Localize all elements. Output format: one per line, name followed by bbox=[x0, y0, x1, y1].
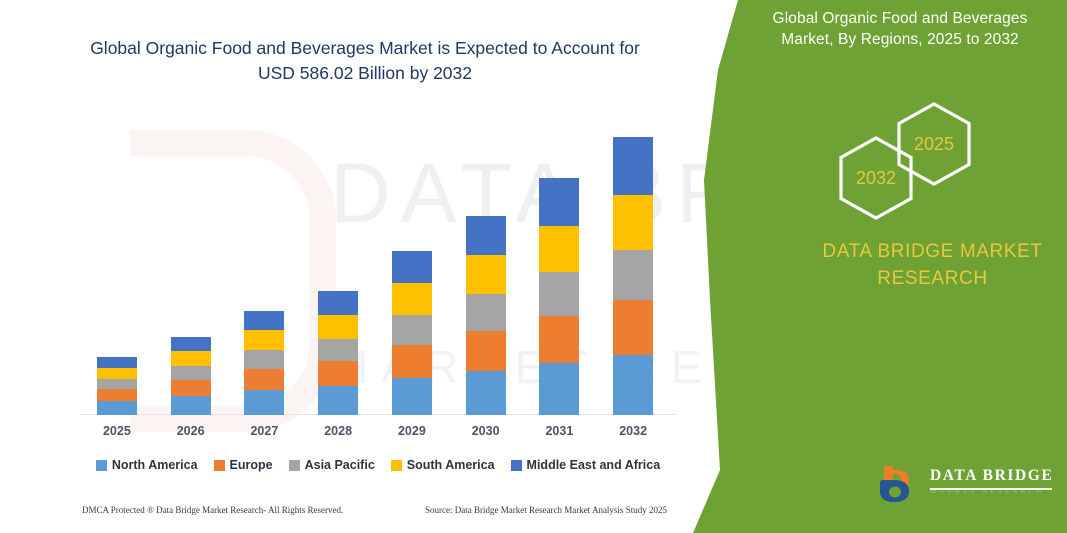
x-axis-label-2032: 2032 bbox=[603, 424, 663, 438]
page-title: Global Organic Food and Beverages Market… bbox=[80, 36, 650, 86]
bar-segment-north-america-2028[interactable] bbox=[318, 386, 358, 415]
bar-segment-north-america-2027[interactable] bbox=[244, 390, 284, 415]
bar-segment-europe-2025[interactable] bbox=[97, 389, 137, 401]
bar-segment-north-america-2025[interactable] bbox=[97, 401, 137, 415]
bar-segment-asia-pacific-2025[interactable] bbox=[97, 379, 137, 389]
bar-segment-europe-2032[interactable] bbox=[613, 300, 653, 355]
bar-chart bbox=[80, 110, 670, 415]
bar-segment-middle-east-and-africa-2025[interactable] bbox=[97, 357, 137, 368]
bar-segment-asia-pacific-2027[interactable] bbox=[244, 350, 284, 369]
x-axis-label-2028: 2028 bbox=[308, 424, 368, 438]
legend-swatch-middle-east-and-africa bbox=[511, 460, 522, 471]
bar-segment-middle-east-and-africa-2028[interactable] bbox=[318, 291, 358, 315]
bar-2028[interactable] bbox=[318, 291, 358, 415]
bar-segment-asia-pacific-2026[interactable] bbox=[171, 366, 211, 380]
infographic-canvas: DATA BRIDGE MARKET RESEARCH Global Organ… bbox=[0, 0, 1067, 533]
bar-segment-south-america-2028[interactable] bbox=[318, 315, 358, 339]
hexagon-2025: 2025 bbox=[896, 101, 972, 187]
x-axis-label-2027: 2027 bbox=[234, 424, 294, 438]
bar-segment-middle-east-and-africa-2026[interactable] bbox=[171, 337, 211, 351]
bar-2032[interactable] bbox=[613, 137, 653, 415]
brand-line-2: RESEARCH bbox=[780, 265, 1067, 292]
legend-label-south-america: South America bbox=[407, 458, 495, 472]
bar-segment-asia-pacific-2029[interactable] bbox=[392, 315, 432, 345]
bar-2031[interactable] bbox=[539, 178, 579, 415]
brand-name: DATA BRIDGE MARKET RESEARCH bbox=[780, 238, 1067, 292]
legend-item-middle-east-and-africa[interactable]: Middle East and Africa bbox=[511, 458, 661, 472]
x-axis-label-2026: 2026 bbox=[161, 424, 221, 438]
footer: DMCA Protected ® Data Bridge Market Rese… bbox=[0, 505, 700, 525]
bar-segment-north-america-2026[interactable] bbox=[171, 396, 211, 415]
bar-segment-asia-pacific-2030[interactable] bbox=[466, 294, 506, 331]
footer-source: Source: Data Bridge Market Research Mark… bbox=[425, 505, 667, 515]
legend-item-north-america[interactable]: North America bbox=[96, 458, 198, 472]
bar-2029[interactable] bbox=[392, 251, 432, 415]
bar-segment-north-america-2032[interactable] bbox=[613, 355, 653, 415]
legend-swatch-south-america bbox=[391, 460, 402, 471]
bar-segment-south-america-2029[interactable] bbox=[392, 283, 432, 315]
bar-segment-middle-east-and-africa-2029[interactable] bbox=[392, 251, 432, 283]
x-axis-labels: 20252026202720282029203020312032 bbox=[80, 424, 670, 444]
panel-title: Global Organic Food and Beverages Market… bbox=[745, 8, 1055, 50]
chart-legend: North AmericaEuropeAsia PacificSouth Ame… bbox=[80, 455, 676, 475]
bar-2025[interactable] bbox=[97, 357, 137, 415]
x-axis-label-2025: 2025 bbox=[87, 424, 147, 438]
bar-segment-south-america-2025[interactable] bbox=[97, 368, 137, 379]
hexagon-2025-label: 2025 bbox=[896, 101, 972, 187]
bar-segment-asia-pacific-2031[interactable] bbox=[539, 272, 579, 316]
bar-segment-south-america-2031[interactable] bbox=[539, 226, 579, 272]
legend-item-south-america[interactable]: South America bbox=[391, 458, 495, 472]
bar-segment-north-america-2031[interactable] bbox=[539, 363, 579, 415]
logo-underline bbox=[930, 488, 1052, 490]
footer-copyright: DMCA Protected ® Data Bridge Market Rese… bbox=[82, 505, 343, 515]
bar-segment-middle-east-and-africa-2031[interactable] bbox=[539, 178, 579, 226]
x-axis-label-2031: 2031 bbox=[529, 424, 589, 438]
logo-mark-icon bbox=[878, 464, 922, 506]
bar-segment-middle-east-and-africa-2032[interactable] bbox=[613, 137, 653, 195]
bar-segment-europe-2031[interactable] bbox=[539, 316, 579, 363]
brand-line-1: DATA BRIDGE MARKET bbox=[780, 238, 1067, 265]
bar-segment-asia-pacific-2032[interactable] bbox=[613, 250, 653, 300]
legend-label-asia-pacific: Asia Pacific bbox=[305, 458, 375, 472]
legend-swatch-europe bbox=[214, 460, 225, 471]
bar-segment-europe-2028[interactable] bbox=[318, 361, 358, 386]
bar-segment-europe-2026[interactable] bbox=[171, 380, 211, 396]
legend-item-asia-pacific[interactable]: Asia Pacific bbox=[289, 458, 375, 472]
bar-2030[interactable] bbox=[466, 216, 506, 415]
x-axis-label-2029: 2029 bbox=[382, 424, 442, 438]
bar-segment-europe-2029[interactable] bbox=[392, 345, 432, 378]
legend-label-north-america: North America bbox=[112, 458, 198, 472]
bar-segment-middle-east-and-africa-2030[interactable] bbox=[466, 216, 506, 255]
data-bridge-logo: DATA BRIDGE MARKET RESEARCH bbox=[878, 462, 1058, 508]
bar-segment-north-america-2030[interactable] bbox=[466, 371, 506, 415]
bar-segment-asia-pacific-2028[interactable] bbox=[318, 339, 358, 361]
logo-text: DATA BRIDGE MARKET RESEARCH bbox=[930, 467, 1053, 495]
legend-item-europe[interactable]: Europe bbox=[214, 458, 273, 472]
x-axis-label-2030: 2030 bbox=[456, 424, 516, 438]
legend-swatch-north-america bbox=[96, 460, 107, 471]
bar-segment-europe-2027[interactable] bbox=[244, 369, 284, 390]
bar-segment-north-america-2029[interactable] bbox=[392, 378, 432, 415]
bar-segment-south-america-2030[interactable] bbox=[466, 255, 506, 294]
legend-label-middle-east-and-africa: Middle East and Africa bbox=[527, 458, 661, 472]
bar-segment-south-america-2026[interactable] bbox=[171, 351, 211, 366]
bar-segment-middle-east-and-africa-2027[interactable] bbox=[244, 311, 284, 330]
logo-text-primary: DATA BRIDGE bbox=[930, 467, 1053, 485]
bar-segment-europe-2030[interactable] bbox=[466, 331, 506, 371]
bar-2026[interactable] bbox=[171, 337, 211, 415]
legend-label-europe: Europe bbox=[230, 458, 273, 472]
bar-segment-south-america-2032[interactable] bbox=[613, 195, 653, 250]
bar-segment-south-america-2027[interactable] bbox=[244, 330, 284, 350]
legend-swatch-asia-pacific bbox=[289, 460, 300, 471]
bar-2027[interactable] bbox=[244, 311, 284, 415]
